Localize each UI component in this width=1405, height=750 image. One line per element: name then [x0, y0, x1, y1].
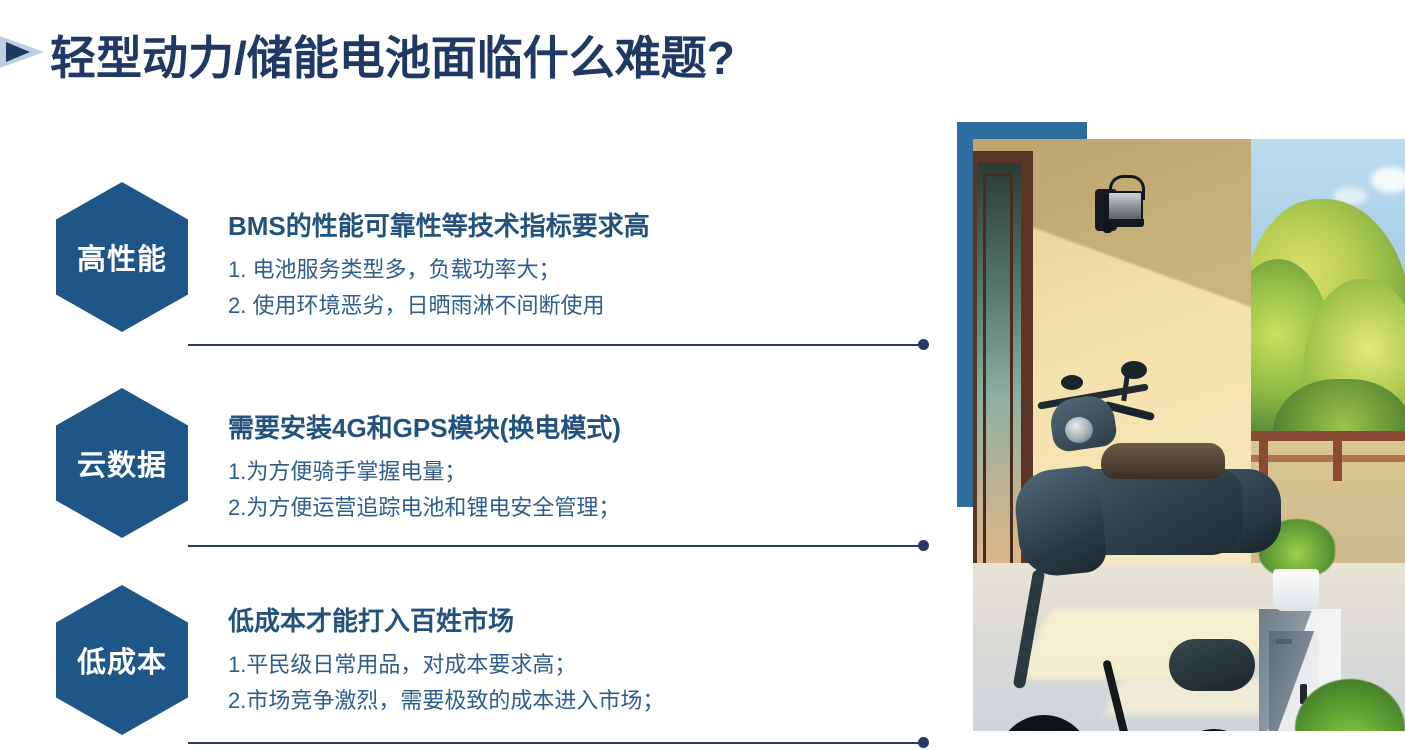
- divider-dot-3: [918, 737, 929, 748]
- divider-2: [188, 545, 926, 547]
- section-line: 1. 电池服务类型多，负载功率大；: [228, 252, 604, 288]
- section-line: 2. 使用环境恶劣，日晒雨淋不间断使用: [228, 288, 604, 324]
- section-body-1: 1. 电池服务类型多，负载功率大； 2. 使用环境恶劣，日晒雨淋不间断使用: [228, 252, 604, 324]
- play-arrow-icon: [0, 32, 44, 72]
- section-line: 1.平民级日常用品，对成本要求高；: [228, 647, 664, 683]
- badge-label-3: 低成本: [77, 639, 167, 681]
- slide-canvas: 轻型动力/储能电池面临什么难题? 高性能 BMS的性能可靠性等技术指标要求高 1…: [0, 0, 1405, 750]
- badge-label-1: 高性能: [77, 236, 167, 278]
- photo-scooter-seat: [1101, 443, 1225, 479]
- photo-scooter-mirror: [1121, 361, 1147, 379]
- photo-scooter-headlight: [1065, 417, 1093, 443]
- badge-hexagon-3: 低成本: [56, 585, 188, 735]
- photo-cloud: [1371, 167, 1405, 193]
- divider-dot-1: [918, 339, 929, 350]
- photo-scooter-mirror: [1061, 375, 1083, 390]
- section-line: 2.为方便运营追踪电池和锂电安全管理；: [228, 490, 620, 526]
- section-heading-1: BMS的性能可靠性等技术指标要求高: [228, 206, 650, 243]
- section-body-2: 1.为方便骑手掌握电量； 2.为方便运营追踪电池和锂电安全管理；: [228, 454, 620, 526]
- slide-title-row: 轻型动力/储能电池面临什么难题?: [0, 14, 900, 94]
- photo-scooter-engine: [1169, 639, 1255, 691]
- photo-cabinet-logo: [1276, 639, 1292, 644]
- photo-door-panel: [983, 173, 1013, 578]
- divider-1: [188, 344, 926, 346]
- scooter-charging-photo: [973, 139, 1405, 731]
- page-title: 轻型动力/储能电池面临什么难题?: [50, 22, 735, 88]
- photo-wall-lamp-base: [1106, 219, 1144, 227]
- photo-railing: [1231, 431, 1405, 441]
- section-line: 1.为方便骑手掌握电量；: [228, 454, 620, 490]
- badge-hexagon-1: 高性能: [56, 182, 188, 332]
- badge-label-2: 云数据: [77, 442, 167, 484]
- section-heading-3: 低成本才能打入百姓市场: [228, 601, 514, 638]
- photo-white-pot: [1273, 569, 1319, 611]
- divider-dot-2: [918, 540, 929, 551]
- photo-railing: [1231, 455, 1405, 462]
- section-line: 2.市场竞争激烈，需要极致的成本进入市场；: [228, 683, 664, 719]
- photo-wall-lamp: [1107, 191, 1143, 221]
- section-heading-2: 需要安装4G和GPS模块(换电模式): [228, 408, 621, 445]
- section-body-3: 1.平民级日常用品，对成本要求高； 2.市场竞争激烈，需要极致的成本进入市场；: [228, 647, 664, 719]
- divider-3: [188, 742, 926, 744]
- badge-hexagon-2: 云数据: [56, 388, 188, 538]
- photo-railing-post: [1333, 431, 1342, 481]
